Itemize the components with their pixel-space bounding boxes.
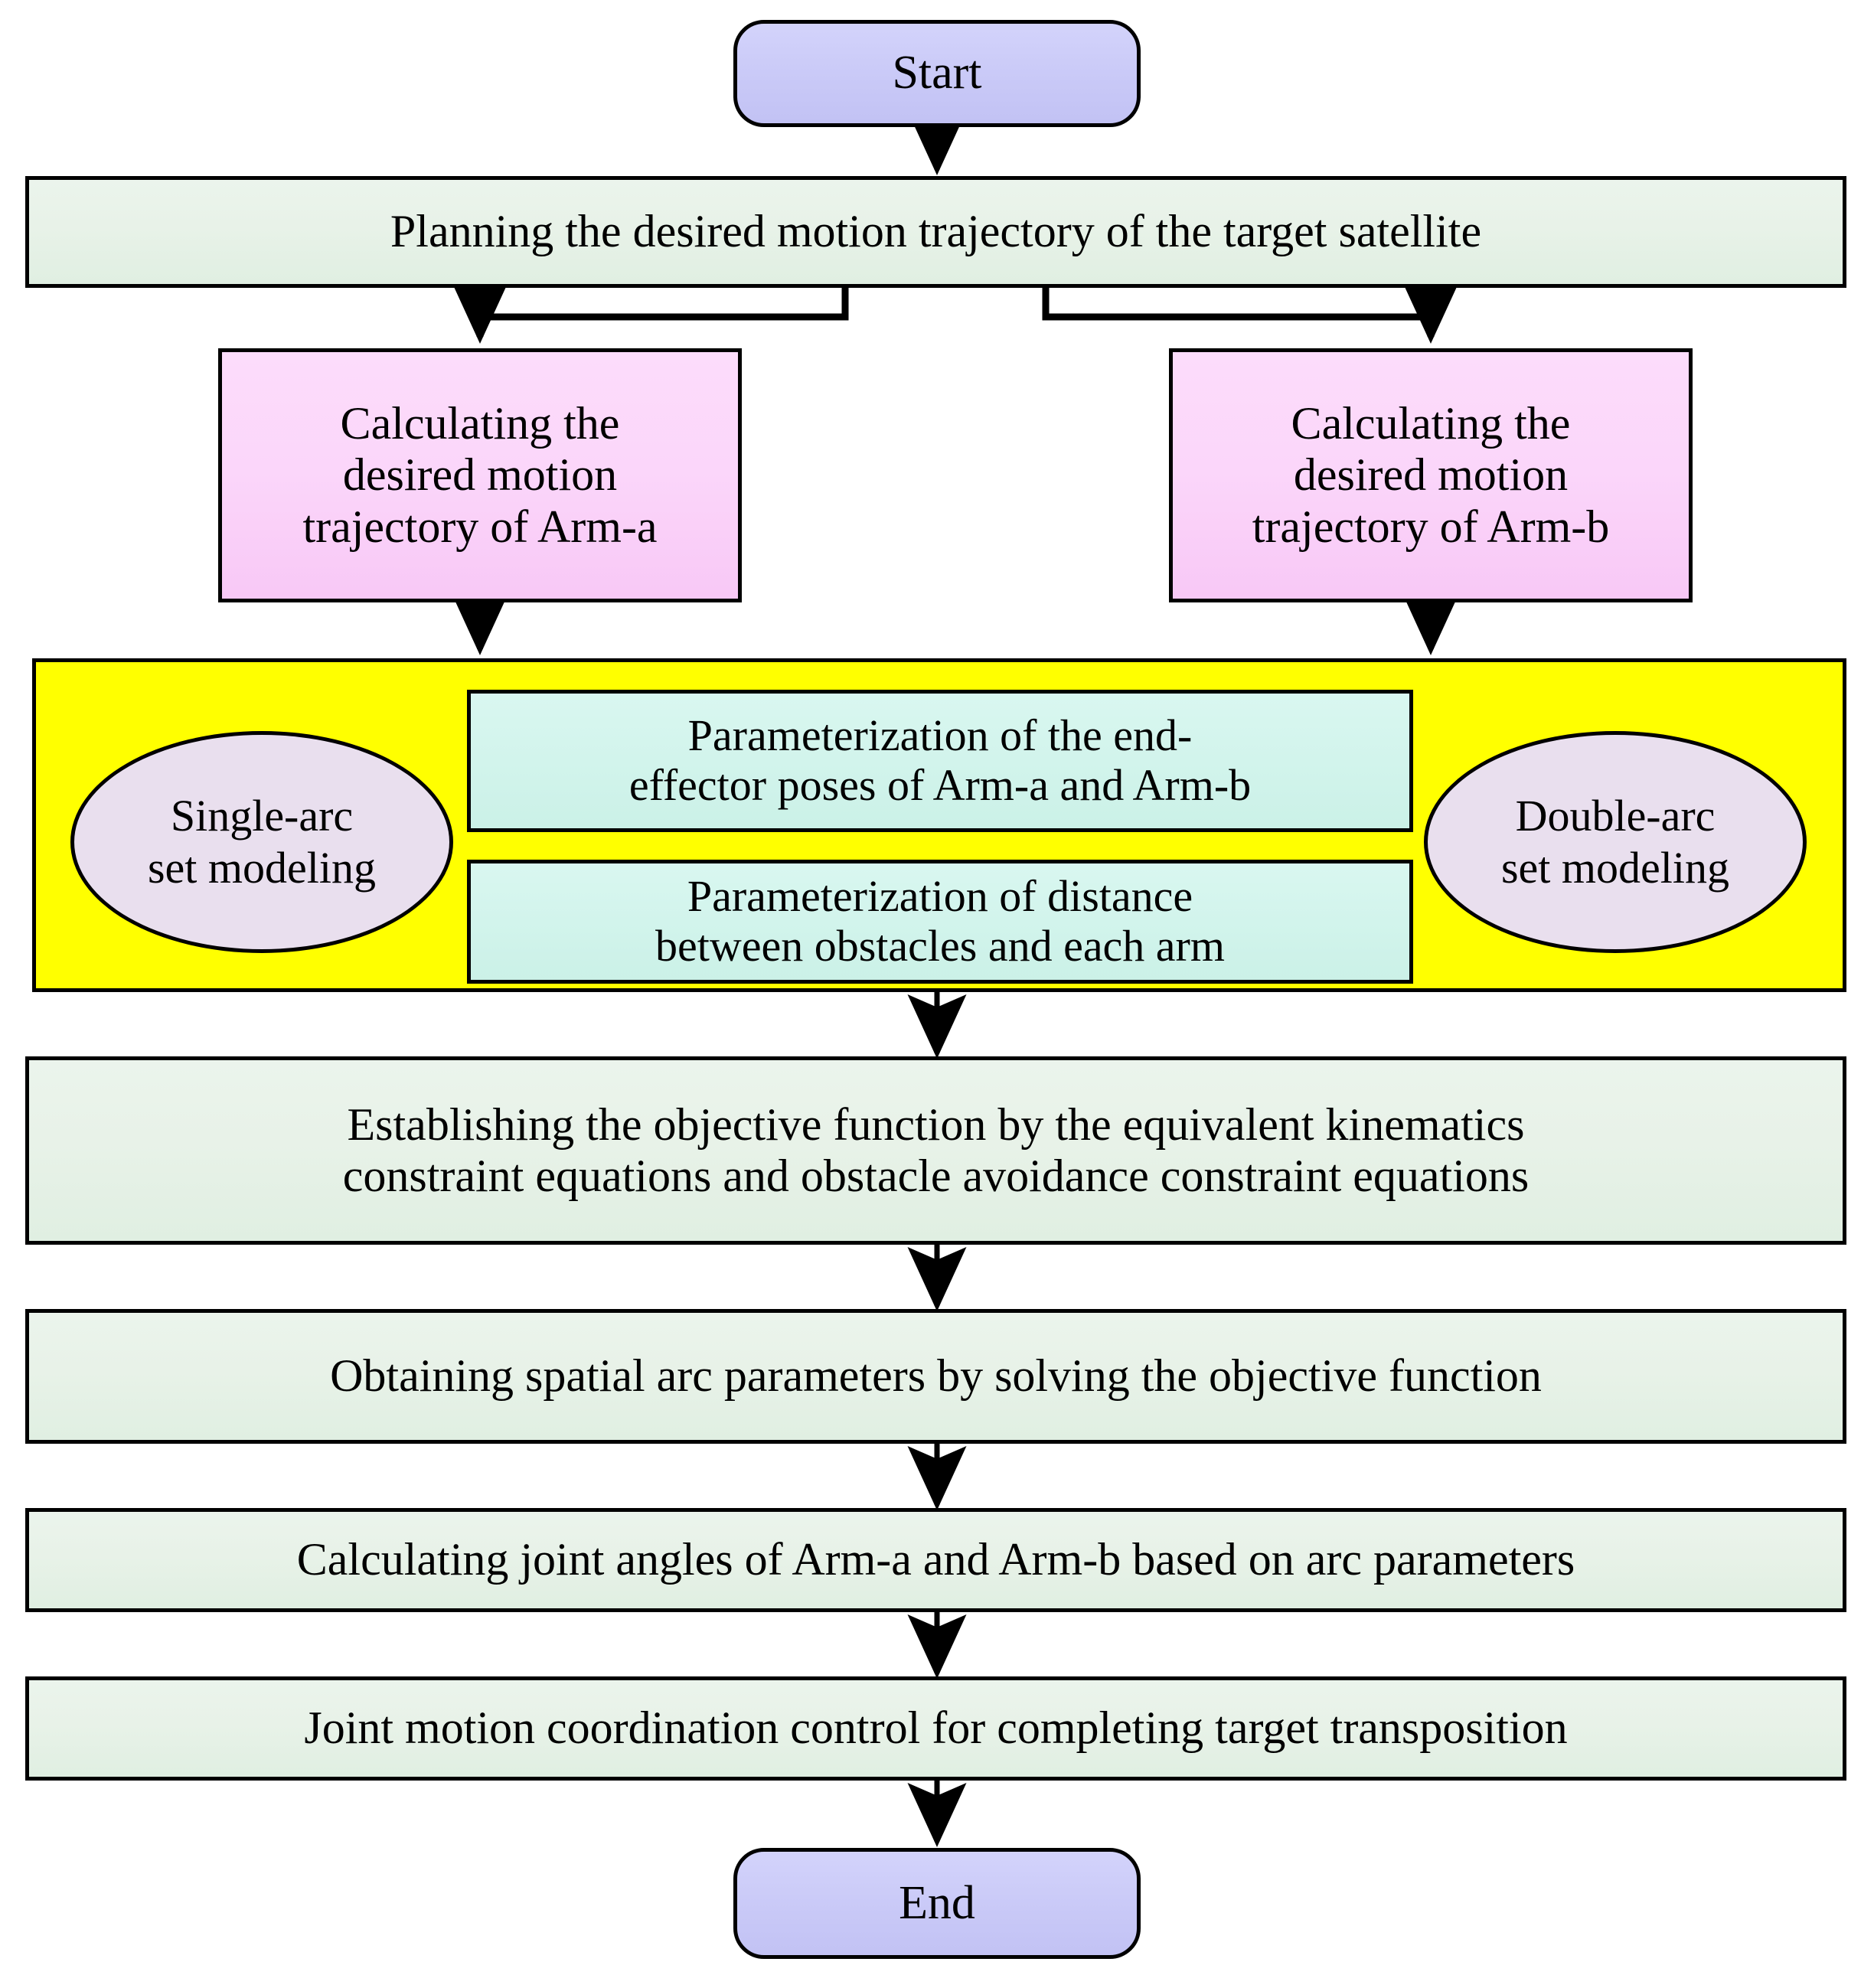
node-param-pose-line-1: Parameterization of the end- [688, 711, 1193, 761]
node-parameterization-distance-obstacles[interactable]: Parameterization of distance between obs… [467, 860, 1413, 984]
node-single-arc-set-modeling[interactable]: Single-arc set modeling [70, 731, 453, 953]
node-end[interactable]: End [733, 1848, 1141, 1959]
edge-plan-to-arm-a [480, 288, 845, 337]
node-joint-motion-coordination[interactable]: Joint motion coordination control for co… [25, 1676, 1846, 1781]
node-double-arc-line-1: Double-arc [1516, 790, 1716, 842]
node-param-dist-line-2: between obstacles and each arm [655, 922, 1225, 971]
node-arm-a-line-3: trajectory of Arm-a [302, 501, 657, 553]
node-param-pose-line-2: effector poses of Arm-a and Arm-b [629, 761, 1251, 811]
node-coordination-label: Joint motion coordination control for co… [304, 1702, 1567, 1754]
node-arm-b[interactable]: Calculating the desired motion trajector… [1169, 348, 1693, 602]
node-objective-line-2: constraint equations and obstacle avoida… [343, 1151, 1530, 1202]
node-end-label: End [899, 1877, 975, 1930]
node-planning-label: Planning the desired motion trajectory o… [390, 206, 1481, 257]
edge-plan-to-arm-b [1046, 288, 1431, 337]
node-arm-a[interactable]: Calculating the desired motion trajector… [218, 348, 742, 602]
node-start-label: Start [892, 47, 981, 100]
node-single-arc-line-1: Single-arc [171, 790, 353, 842]
node-arm-a-line-1: Calculating the [341, 398, 620, 449]
node-double-arc-line-2: set modeling [1501, 842, 1729, 894]
node-calculating-joint-angles[interactable]: Calculating joint angles of Arm-a and Ar… [25, 1508, 1846, 1612]
node-objective-function[interactable]: Establishing the objective function by t… [25, 1056, 1846, 1245]
node-planning[interactable]: Planning the desired motion trajectory o… [25, 176, 1846, 288]
node-double-arc-set-modeling[interactable]: Double-arc set modeling [1424, 731, 1807, 953]
node-joint-angles-label: Calculating joint angles of Arm-a and Ar… [297, 1534, 1575, 1585]
node-obtaining-arc-parameters[interactable]: Obtaining spatial arc parameters by solv… [25, 1309, 1846, 1444]
node-objective-line-1: Establishing the objective function by t… [348, 1099, 1525, 1151]
node-param-dist-line-1: Parameterization of distance [687, 872, 1193, 922]
node-parameterization-end-effector-poses[interactable]: Parameterization of the end- effector po… [467, 690, 1413, 832]
node-start[interactable]: Start [733, 20, 1141, 127]
node-arm-b-line-2: desired motion [1294, 449, 1568, 501]
node-arm-a-line-2: desired motion [343, 449, 617, 501]
node-single-arc-line-2: set modeling [148, 842, 376, 894]
node-arm-b-line-1: Calculating the [1291, 398, 1571, 449]
flowchart-canvas: Start Planning the desired motion trajec… [0, 0, 1874, 1988]
node-solve-label: Obtaining spatial arc parameters by solv… [330, 1350, 1542, 1402]
node-arm-b-line-3: trajectory of Arm-b [1252, 501, 1610, 553]
